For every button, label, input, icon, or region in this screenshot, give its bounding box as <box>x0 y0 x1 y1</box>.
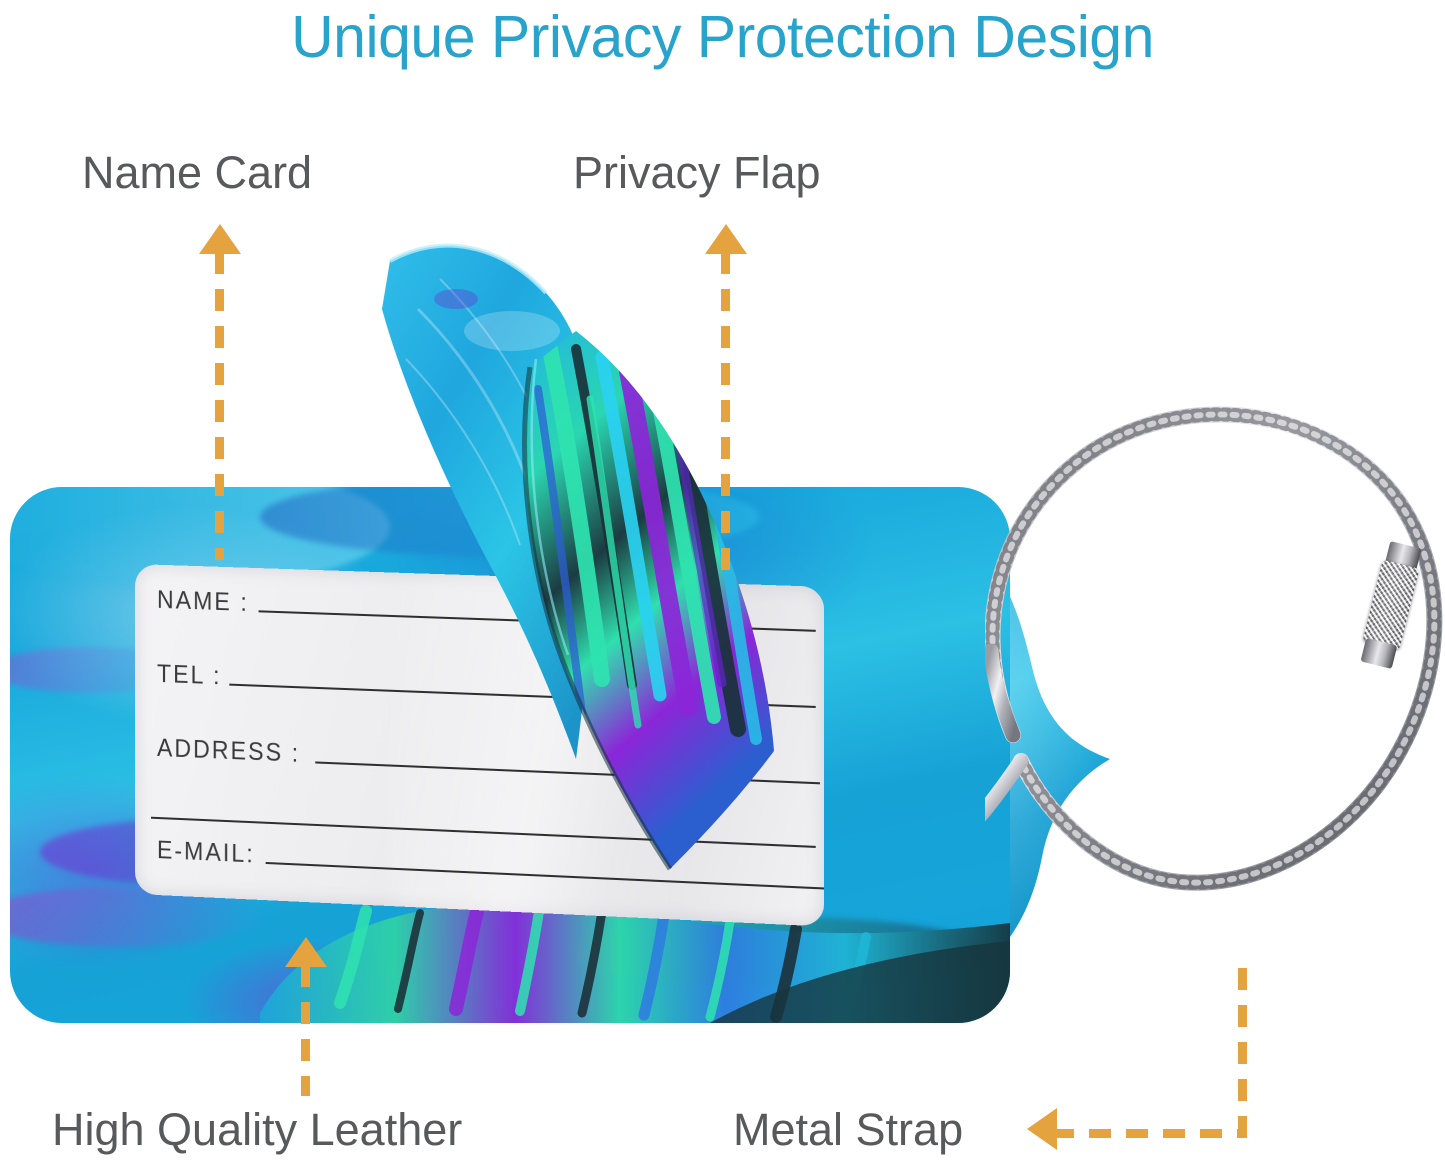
arrow-line-high-quality-leather <box>301 965 310 1096</box>
callout-label-metal-strap: Metal Strap <box>733 1104 963 1156</box>
arrow-head-metal-strap <box>1027 1108 1057 1150</box>
clasp-knurled-barrel <box>1362 560 1419 651</box>
field-row-name: NAME : <box>157 613 816 636</box>
callout-label-high-quality-leather: High Quality Leather <box>52 1104 462 1156</box>
arrow-line-metal-strap-vertical <box>1238 968 1247 1138</box>
tag-leather-body: NAME : TEL : ADDRESS : E-MAIL: <box>10 487 1010 1023</box>
cable-screw-clasp <box>1353 537 1429 672</box>
field-row-tel: TEL : <box>157 687 816 712</box>
field-row-email: E-MAIL: <box>157 863 824 894</box>
field-label-name: NAME : <box>157 587 249 616</box>
arrow-line-name-card <box>215 252 224 560</box>
page-title: Unique Privacy Protection Design <box>0 2 1445 72</box>
name-card: NAME : TEL : ADDRESS : E-MAIL: <box>135 564 824 927</box>
field-line-tel <box>229 684 816 708</box>
luggage-tag: NAME : TEL : ADDRESS : E-MAIL: <box>10 487 1150 1023</box>
arrow-head-name-card <box>199 224 241 254</box>
arrow-head-privacy-flap <box>705 224 747 254</box>
field-line-name <box>259 610 816 632</box>
callout-label-privacy-flap: Privacy Flap <box>573 147 821 199</box>
arrow-head-high-quality-leather <box>285 937 327 967</box>
field-label-tel: TEL : <box>157 661 221 689</box>
field-row-address: ADDRESS : <box>157 761 820 789</box>
arrow-line-privacy-flap <box>721 252 730 570</box>
arrow-line-metal-strap-horizontal <box>1052 1129 1244 1138</box>
field-line-address <box>315 761 820 784</box>
infographic-canvas: Unique Privacy Protection Design Name Ca… <box>0 0 1445 1165</box>
field-label-address: ADDRESS : <box>157 735 300 767</box>
field-label-email: E-MAIL: <box>157 837 255 868</box>
field-line-email <box>265 862 824 890</box>
callout-label-name-card: Name Card <box>82 147 312 199</box>
